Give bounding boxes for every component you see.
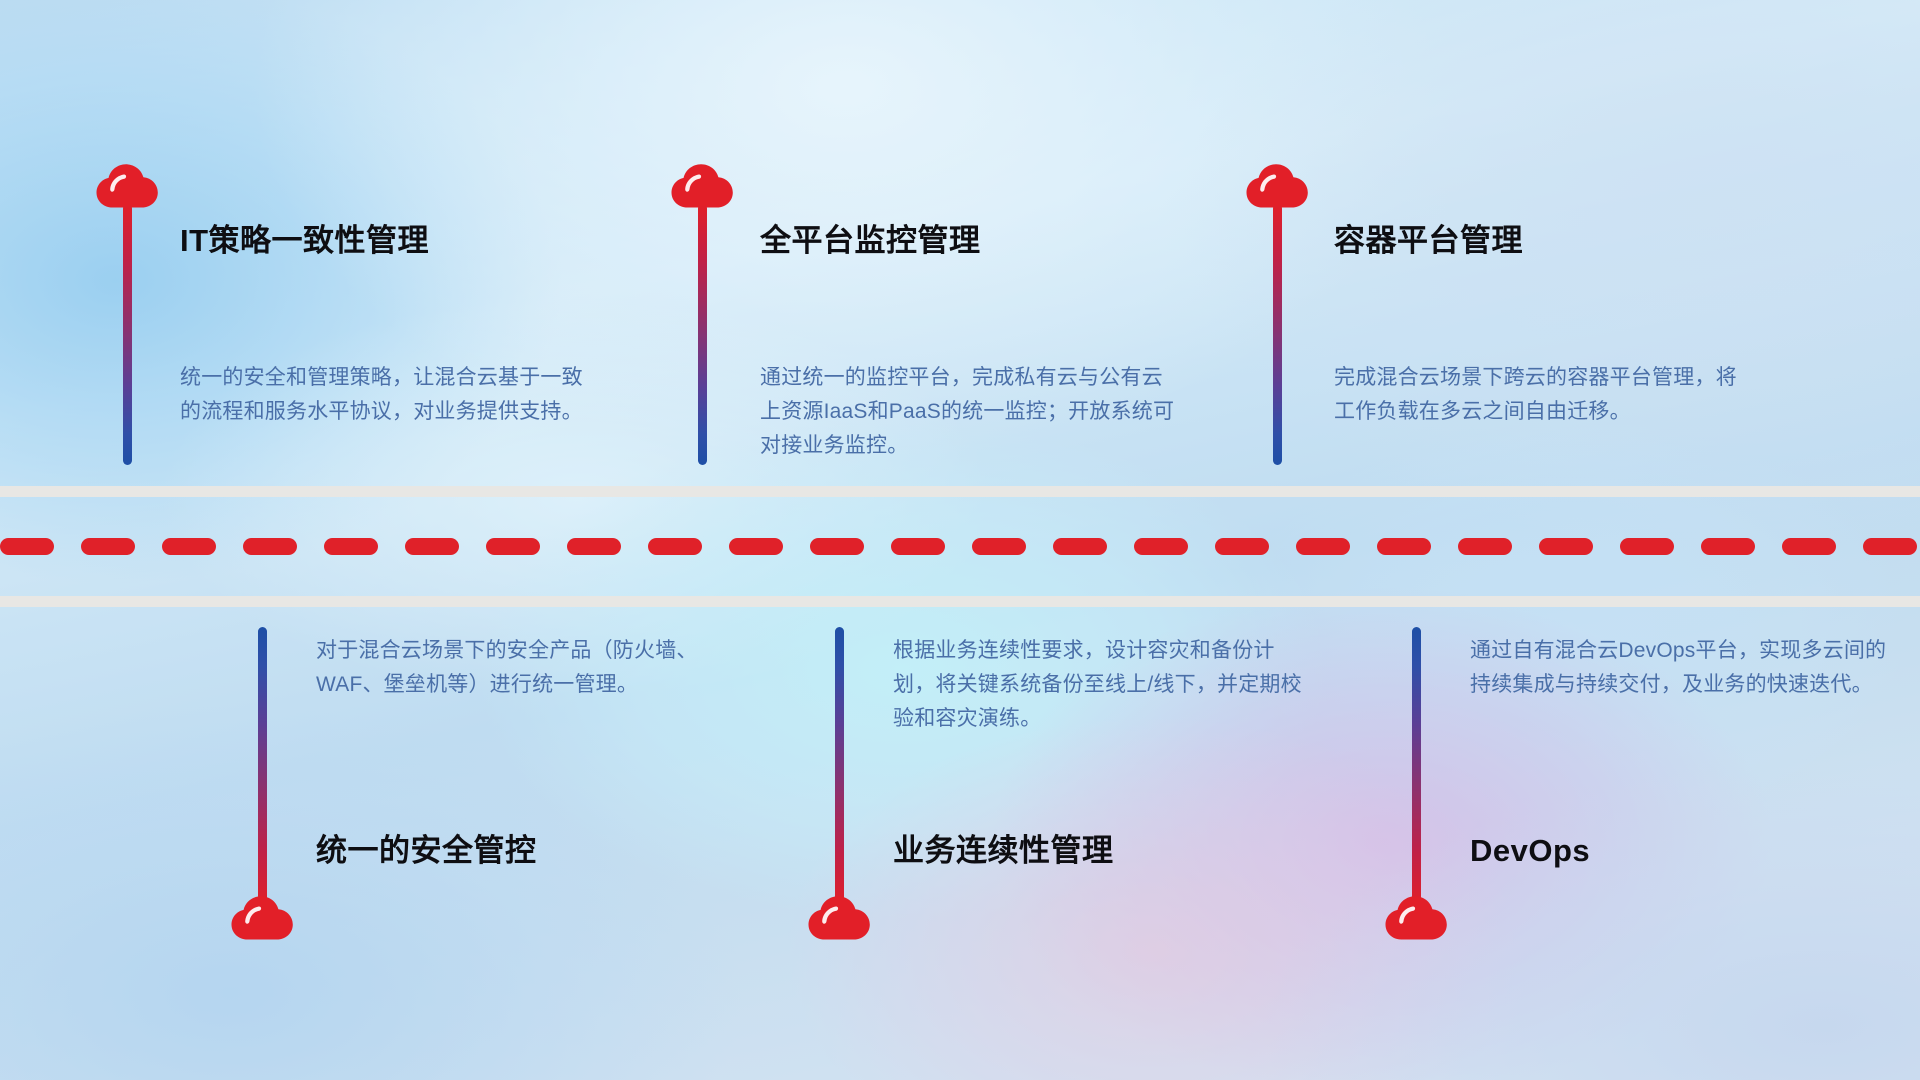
road-dash <box>648 538 702 555</box>
cloud-icon <box>1385 896 1447 940</box>
road-edge-top <box>0 486 1920 497</box>
road-dash <box>1863 538 1917 555</box>
column-title-devops: DevOps <box>1470 832 1590 869</box>
column-stem-4 <box>258 627 267 908</box>
road-dash <box>162 538 216 555</box>
road-dash <box>729 538 783 555</box>
road-dash <box>1458 538 1512 555</box>
column-stem-3 <box>1273 204 1282 465</box>
cloud-icon <box>231 896 293 940</box>
road-dash <box>324 538 378 555</box>
column-title-container: 容器平台管理 <box>1334 222 1523 259</box>
column-stem-2 <box>698 204 707 465</box>
road-dash <box>243 538 297 555</box>
road-dash <box>81 538 135 555</box>
road-dash <box>1134 538 1188 555</box>
column-stem-1 <box>123 204 132 465</box>
cloud-icon <box>808 896 870 940</box>
road-dashed-centerline <box>0 538 1920 555</box>
road-dash <box>1296 538 1350 555</box>
cloud-icon <box>96 164 158 208</box>
road-dash <box>810 538 864 555</box>
column-title-security: 统一的安全管控 <box>316 832 537 869</box>
road-dash <box>891 538 945 555</box>
road-dash <box>0 538 54 555</box>
column-stem-6 <box>1412 627 1421 908</box>
column-stem-5 <box>835 627 844 908</box>
infographic-canvas: IT策略一致性管理 统一的安全和管理策略，让混合云基于一致的流程和服务水平协议，… <box>0 0 1920 1080</box>
column-body-devops: 通过自有混合云DevOps平台，实现多云间的持续集成与持续交付，及业务的快速迭代… <box>1470 634 1890 702</box>
road-dash <box>486 538 540 555</box>
column-body-continuity: 根据业务连续性要求，设计容灾和备份计划，将关键系统备份至线上/线下，并定期校验和… <box>893 634 1313 736</box>
column-body-security: 对于混合云场景下的安全产品（防火墙、WAF、堡垒机等）进行统一管理。 <box>316 634 736 702</box>
column-body-monitoring: 通过统一的监控平台，完成私有云与公有云上资源IaaS和PaaS的统一监控；开放系… <box>760 361 1180 463</box>
column-body-container: 完成混合云场景下跨云的容器平台管理，将工作负载在多云之间自由迁移。 <box>1334 361 1754 429</box>
road-dash <box>1782 538 1836 555</box>
cloud-icon <box>671 164 733 208</box>
cloud-icon <box>1246 164 1308 208</box>
column-body-it-policy: 统一的安全和管理策略，让混合云基于一致的流程和服务水平协议，对业务提供支持。 <box>180 361 600 429</box>
road-dash <box>1377 538 1431 555</box>
road-dash <box>1053 538 1107 555</box>
road-dash <box>972 538 1026 555</box>
road-dash <box>567 538 621 555</box>
road-dash <box>1539 538 1593 555</box>
road-dash <box>1701 538 1755 555</box>
column-title-it-policy: IT策略一致性管理 <box>180 222 429 259</box>
column-title-continuity: 业务连续性管理 <box>893 832 1114 869</box>
road-dash <box>405 538 459 555</box>
road-edge-bottom <box>0 596 1920 607</box>
road-dash <box>1620 538 1674 555</box>
road-dash <box>1215 538 1269 555</box>
column-title-monitoring: 全平台监控管理 <box>760 222 981 259</box>
